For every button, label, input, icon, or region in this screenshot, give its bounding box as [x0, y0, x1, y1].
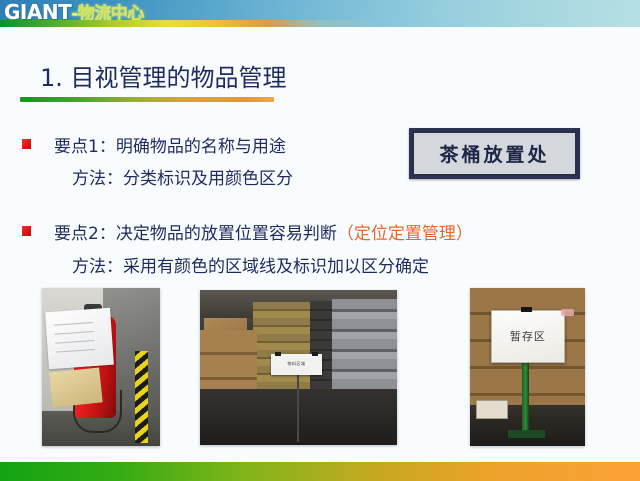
bullet-1-method: 方法：分类标识及用颜色区分 — [72, 164, 293, 189]
photo3-carton-tag — [476, 400, 508, 419]
photo2-sack-stack-dark — [310, 301, 332, 394]
photo3-sign-base — [508, 430, 545, 438]
photo-temporary-storage-sign: 暂存区 — [470, 288, 585, 446]
photo3-area-sign: 暂存区 — [491, 310, 565, 363]
photo-warehouse-aisle: 物料区域 — [200, 290, 397, 445]
bullet-2-point: 要点2：决定物品的放置位置容易判断 — [54, 224, 337, 244]
bullet-2-highlight: （定位定置管理） — [337, 224, 473, 244]
photo3-sign-clip — [521, 307, 532, 312]
slide-canvas: GIANT -物流中心 1. 目视管理的物品管理 要点1：明确物品的名称与用途 … — [0, 0, 640, 481]
photo2-area-sign-text: 物料区域 — [288, 361, 306, 367]
page-title: 1. 目视管理的物品管理 — [40, 58, 287, 93]
slide-header: GIANT -物流中心 — [0, 0, 640, 27]
title-underline-rule — [20, 97, 274, 102]
sign-plate-inner: 茶桶放置处 — [412, 131, 577, 176]
sign-plate: 茶桶放置处 — [409, 128, 580, 179]
bullet-1-point: 要点1：明确物品的名称与用途 — [54, 132, 286, 157]
photo2-sign-pole — [297, 368, 299, 442]
photo-fire-extinguisher — [42, 288, 160, 446]
red-square-bullet-icon-1 — [22, 139, 31, 149]
footer-gradient-bar — [0, 462, 640, 481]
photo1-hazard-stripe — [135, 351, 148, 443]
bullet-2-method: 方法：采用有颜色的区域线及标识加以区分确定 — [72, 252, 429, 277]
red-square-bullet-icon-2 — [22, 226, 31, 236]
photo2-area-sign: 物料区域 — [271, 354, 322, 376]
photo3-pink-mark — [561, 309, 574, 316]
sign-plate-text: 茶桶放置处 — [439, 140, 549, 167]
header-gradient-bar — [0, 20, 380, 27]
bullet-2-point-wrap: 要点2：决定物品的放置位置容易判断（定位定置管理） — [54, 219, 473, 244]
photo1-body-label — [50, 368, 103, 408]
photo3-area-sign-text: 暂存区 — [510, 328, 546, 344]
photo1-inspection-tag — [45, 308, 114, 369]
photo2-sack-stack — [253, 302, 310, 398]
